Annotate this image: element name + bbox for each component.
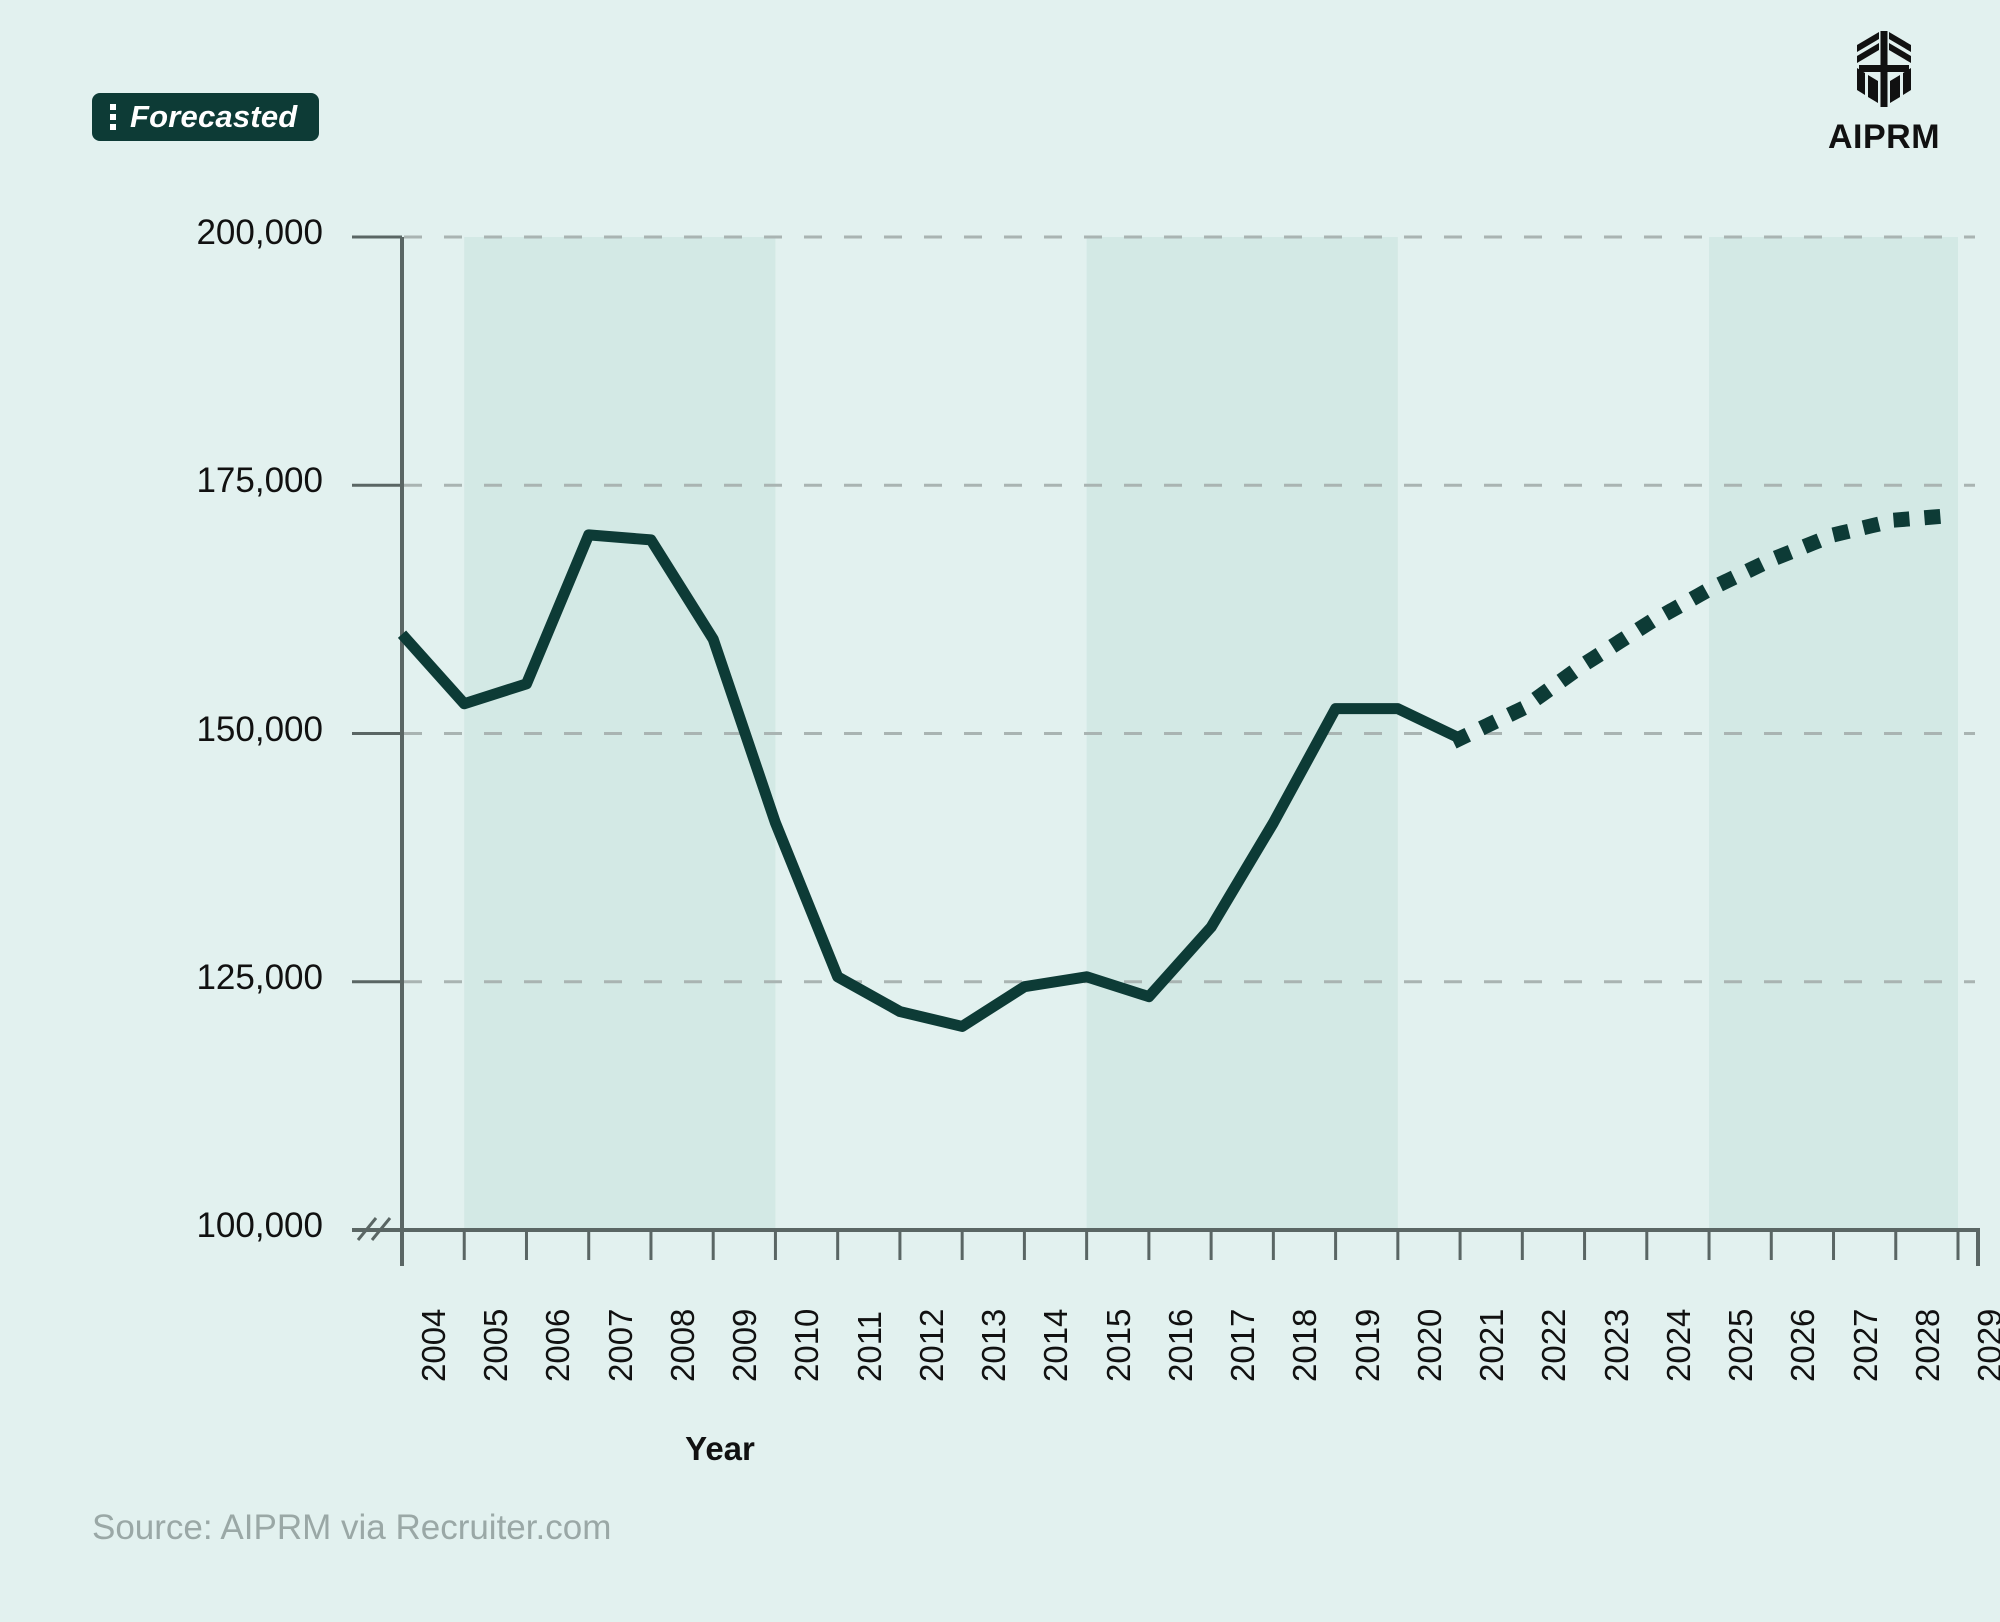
x-tick-label: 2021 xyxy=(1473,1309,1511,1382)
x-axis-tick-labels: 2004200520062007200820092010201120122013… xyxy=(0,0,2000,1622)
x-tick-label: 2019 xyxy=(1349,1309,1387,1382)
x-tick-label: 2006 xyxy=(539,1309,577,1382)
x-tick-label: 2028 xyxy=(1909,1309,1947,1382)
x-tick-label: 2005 xyxy=(477,1309,515,1382)
x-tick-label: 2029 xyxy=(1971,1309,2000,1382)
x-tick-label: 2018 xyxy=(1286,1309,1324,1382)
x-tick-label: 2022 xyxy=(1535,1309,1573,1382)
x-tick-label: 2024 xyxy=(1660,1309,1698,1382)
x-tick-label: 2023 xyxy=(1598,1309,1636,1382)
source-caption: Source: AIPRM via Recruiter.com xyxy=(92,1508,611,1548)
x-tick-label: 2008 xyxy=(664,1309,702,1382)
x-tick-label: 2026 xyxy=(1784,1309,1822,1382)
x-tick-label: 2016 xyxy=(1162,1309,1200,1382)
x-tick-label: 2017 xyxy=(1224,1309,1262,1382)
x-tick-label: 2012 xyxy=(913,1309,951,1382)
chart-page: Forecasted xyxy=(0,0,2000,1622)
x-tick-label: 2025 xyxy=(1722,1309,1760,1382)
x-tick-label: 2015 xyxy=(1100,1309,1138,1382)
x-tick-label: 2027 xyxy=(1847,1309,1885,1382)
x-tick-label: 2010 xyxy=(788,1309,826,1382)
x-tick-label: 2011 xyxy=(851,1311,889,1382)
x-tick-label: 2013 xyxy=(975,1309,1013,1382)
line-chart: 200,000175,000150,000125,000100,000 2004… xyxy=(0,0,2000,1622)
x-tick-label: 2009 xyxy=(726,1309,764,1382)
x-tick-label: 2007 xyxy=(602,1309,640,1382)
x-tick-label: 2014 xyxy=(1037,1309,1075,1382)
x-tick-label: 2020 xyxy=(1411,1309,1449,1382)
x-tick-label: 2004 xyxy=(415,1309,453,1382)
